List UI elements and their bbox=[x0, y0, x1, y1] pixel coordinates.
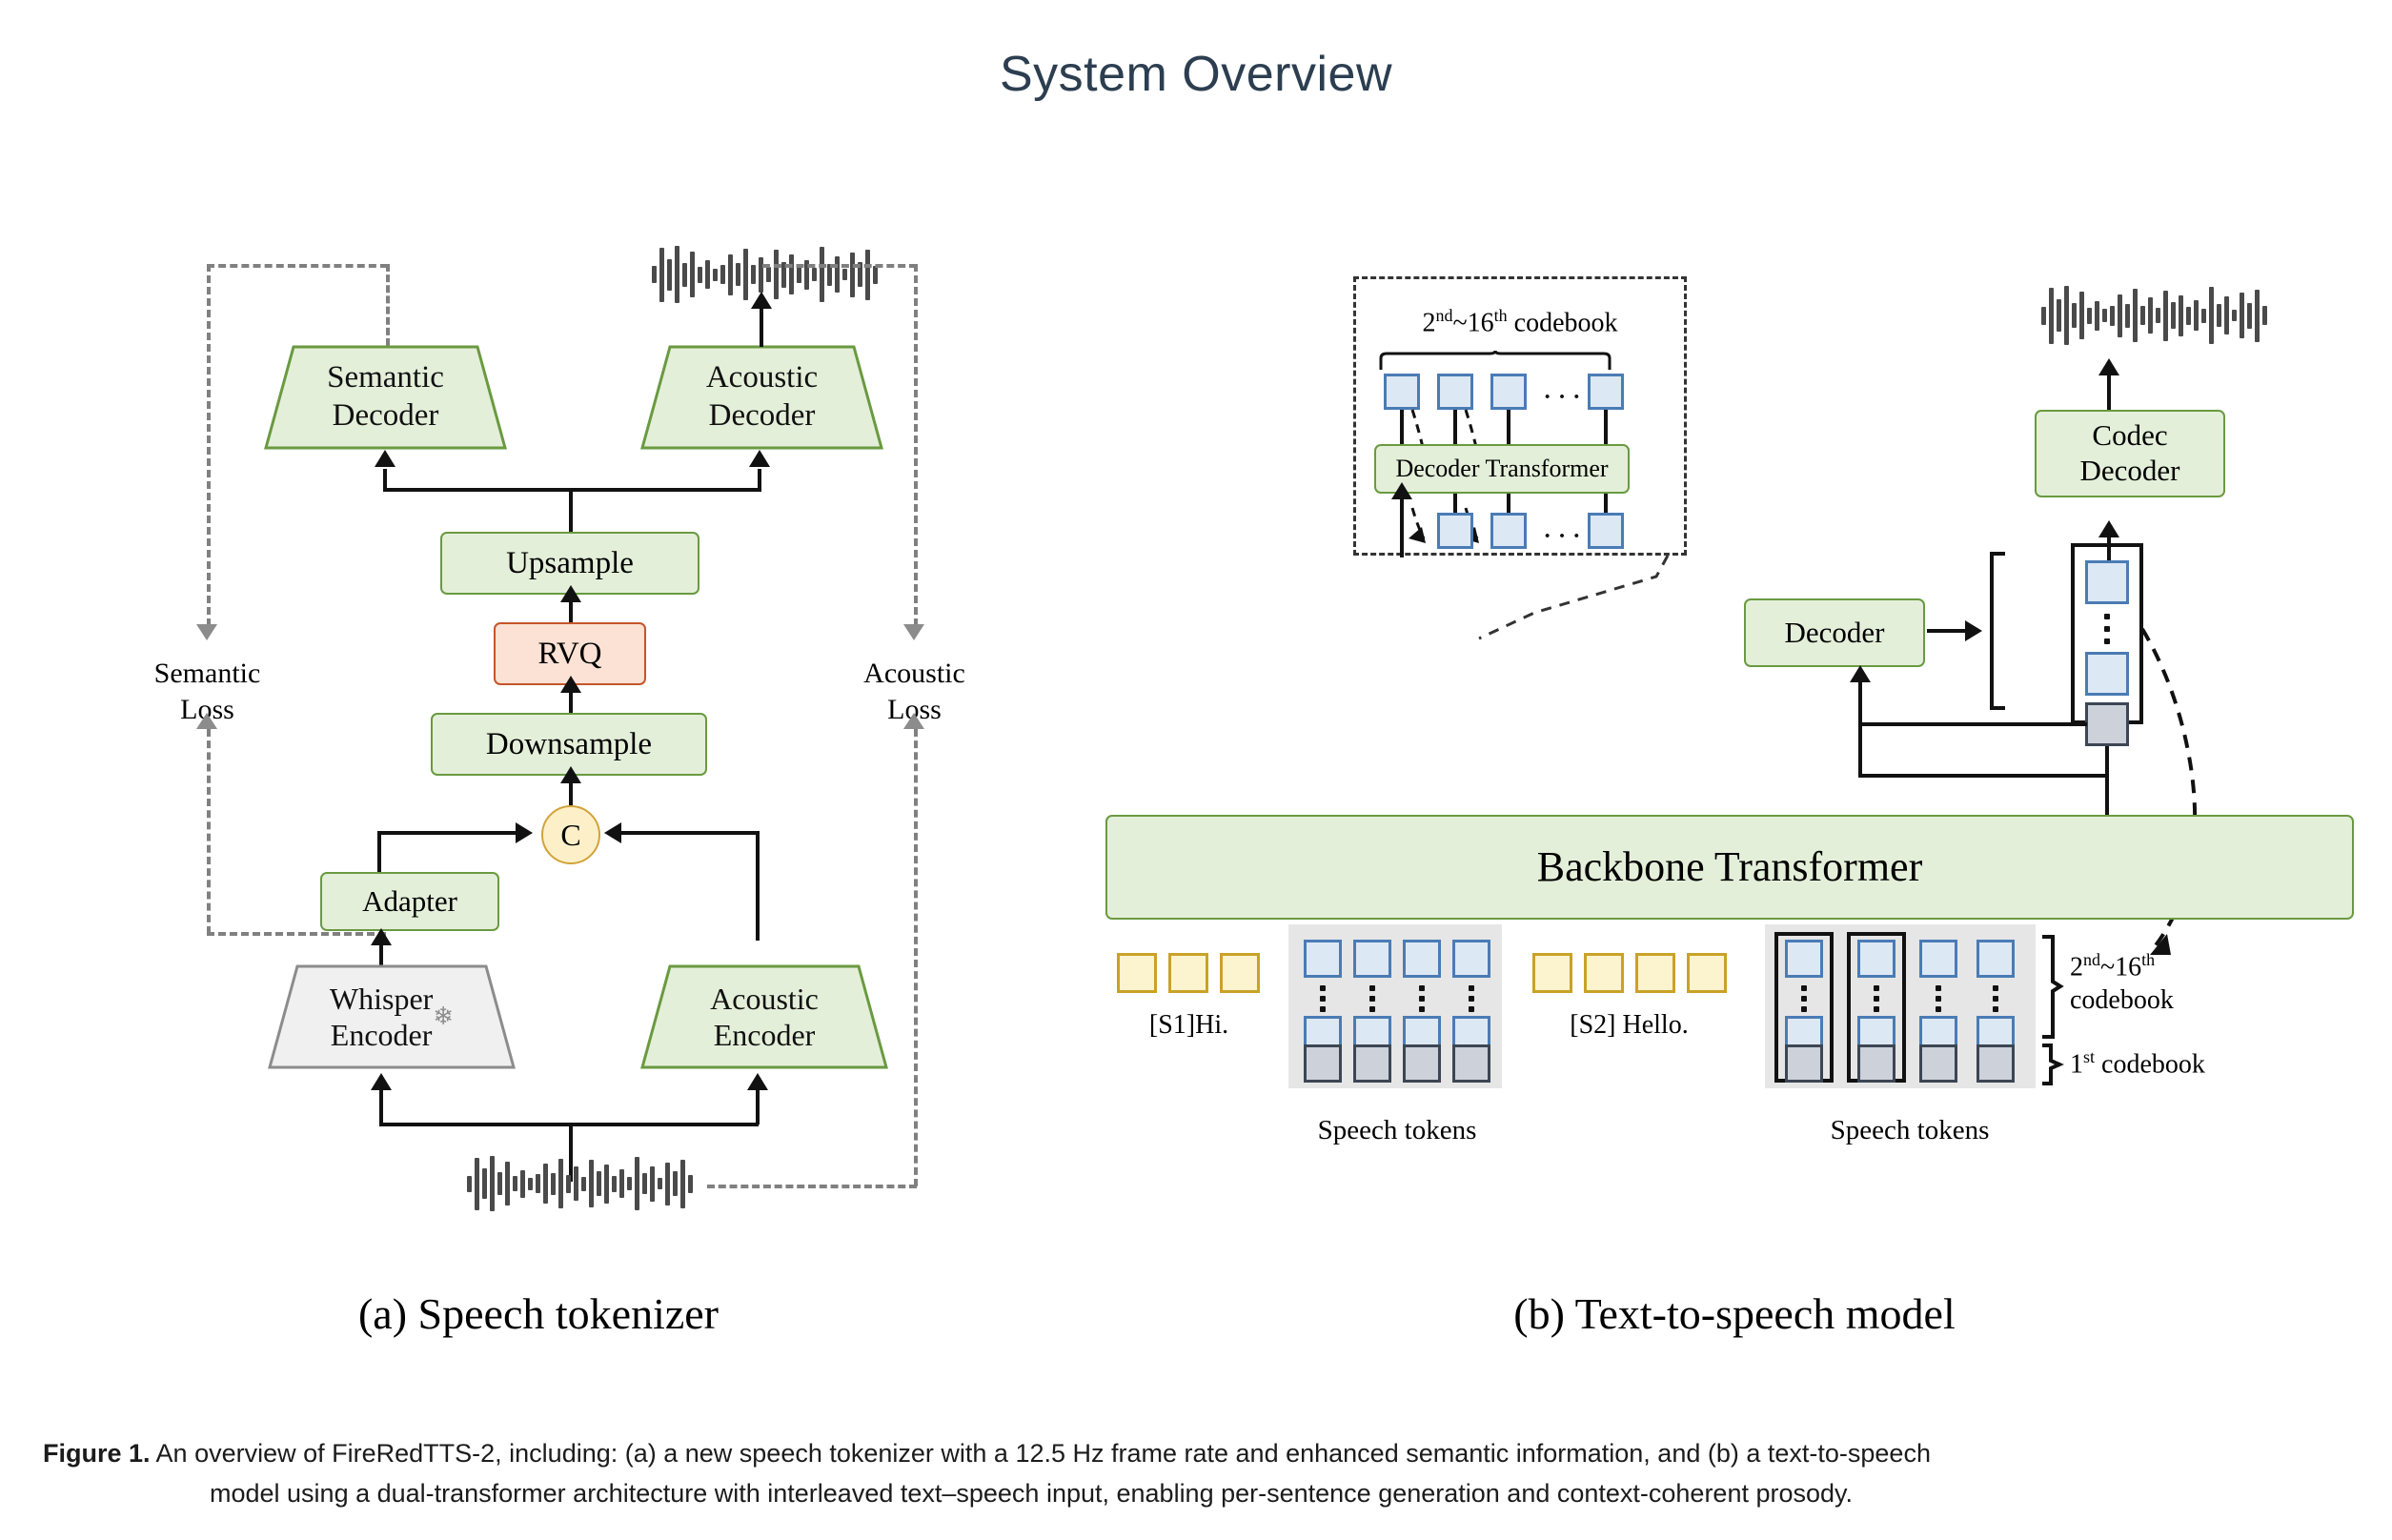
line-upsample-to-bus bbox=[569, 488, 573, 533]
arrow-bus-semantic-icon bbox=[375, 450, 395, 467]
arrow-concat-downsample-icon bbox=[560, 766, 581, 783]
codebook-brace-upper-icon bbox=[2039, 934, 2064, 1041]
codec-output-waveform-icon bbox=[2041, 286, 2267, 345]
decoder-node[interactable]: Decoder bbox=[1744, 598, 1925, 667]
token-rollout-dashed-curve bbox=[2125, 591, 2297, 991]
sp1-r3c2 bbox=[1353, 1044, 1391, 1083]
semantic-loss-dashed-bottom bbox=[207, 932, 386, 936]
codebook-upper-label: 2nd~16thcodebook bbox=[2070, 949, 2318, 1017]
figure-caption: Figure 1. An overview of FireRedTTS-2, i… bbox=[43, 1434, 2354, 1514]
arrow-acousticenc-concat-icon bbox=[604, 822, 621, 843]
acoustic-loss-dashed-up bbox=[914, 729, 918, 1186]
acoustic-decoder-node[interactable]: AcousticDecoder bbox=[640, 345, 883, 450]
sp2-r3c3 bbox=[1919, 1044, 1957, 1083]
text-token-s1-2 bbox=[1168, 953, 1208, 993]
adapter-node[interactable]: Adapter bbox=[320, 872, 499, 931]
decoder-output-vdots bbox=[2104, 614, 2110, 644]
panel-b-caption: (b) Text-to-speech model bbox=[1077, 1288, 2392, 1339]
semantic-loss-arrow-down-icon bbox=[196, 624, 217, 640]
sp1-dots-c4 bbox=[1469, 985, 1474, 1012]
line-feedback-v bbox=[1858, 679, 1862, 776]
sp2-r3c4 bbox=[1976, 1044, 2015, 1083]
inset-stem-bot-3 bbox=[1507, 494, 1510, 515]
line-adapter-up bbox=[377, 831, 381, 874]
text-token-s2-2 bbox=[1584, 953, 1624, 993]
acoustic-encoder-label: AcousticEncoder bbox=[640, 964, 888, 1069]
concat-node[interactable]: C bbox=[541, 805, 600, 864]
sp1-r3c1 bbox=[1304, 1044, 1342, 1083]
sp1-dots-c2 bbox=[1369, 985, 1375, 1012]
speech-tokens-right-label: Speech tokens bbox=[1786, 1113, 2034, 1147]
arrow-decoder-stack-icon bbox=[1965, 620, 1982, 641]
panel-a-caption: (a) Speech tokenizer bbox=[0, 1288, 1077, 1339]
panel-speech-tokenizer: SemanticLoss AcousticLoss SemanticDecode… bbox=[0, 0, 1077, 1382]
sp1-r1c2 bbox=[1353, 940, 1391, 978]
arrow-feedback-decoder-icon bbox=[1850, 665, 1871, 682]
sp1-r3c4 bbox=[1452, 1044, 1490, 1083]
input-waveform-icon bbox=[467, 1156, 693, 1211]
speech-tokens-left-label: Speech tokens bbox=[1290, 1113, 1504, 1147]
acoustic-loss-arrow-down-icon bbox=[903, 624, 924, 640]
text-token-s2-1 bbox=[1532, 953, 1572, 993]
figure-label: Figure 1. bbox=[43, 1439, 151, 1468]
inset-token-bot-1 bbox=[1437, 513, 1473, 549]
sp2-r3c2 bbox=[1857, 1044, 1895, 1083]
line-acousticenc-to-concat bbox=[621, 831, 760, 835]
acoustic-loss-arrow-up-icon bbox=[903, 713, 924, 729]
line-feedback-h1 bbox=[1858, 722, 2087, 726]
line-bus-to-acoustic-decoder bbox=[758, 469, 761, 490]
arrow-bus-acousticenc-icon bbox=[747, 1073, 768, 1090]
sp2-dots-c4 bbox=[1993, 985, 1998, 1012]
line-bus-to-semantic-decoder bbox=[383, 469, 387, 490]
line-bus-to-whisper bbox=[379, 1086, 383, 1125]
sp2-r1c1 bbox=[1785, 940, 1823, 978]
text-token-s1-3 bbox=[1220, 953, 1260, 993]
arrow-rvq-upsample-icon bbox=[560, 585, 581, 602]
text-token-s1-1 bbox=[1117, 953, 1157, 993]
inset-stem-bot-2 bbox=[1453, 494, 1457, 515]
snowflake-icon: ❄ bbox=[433, 1002, 454, 1031]
semantic-loss-dashed-top bbox=[207, 264, 388, 268]
arrow-to-output-wave-icon bbox=[751, 292, 772, 309]
arrow-bus-whisper-icon bbox=[371, 1073, 392, 1090]
line-acoustic-decoder-to-wave bbox=[760, 303, 763, 347]
text-token-s2-4 bbox=[1687, 953, 1727, 993]
decoder-output-token-top bbox=[2085, 560, 2129, 604]
codebook-brace-lower-icon bbox=[2039, 1043, 2064, 1086]
line-adapter-to-concat bbox=[377, 831, 516, 835]
line-bus-to-acousticenc bbox=[756, 1086, 760, 1125]
codec-decoder-label: CodecDecoder bbox=[2080, 418, 2180, 488]
sp1-dots-c1 bbox=[1320, 985, 1326, 1012]
sp1-r1c4 bbox=[1452, 940, 1490, 978]
sp2-r1c4 bbox=[1976, 940, 2015, 978]
semantic-loss-arrow-up-icon bbox=[196, 713, 217, 729]
figure-caption-line1: An overview of FireRedTTS-2, including: … bbox=[151, 1439, 1931, 1468]
codec-decoder-node[interactable]: CodecDecoder bbox=[2035, 410, 2225, 497]
inset-arrow-up-icon bbox=[1391, 482, 1412, 499]
panel-text-to-speech-model: 2nd~16th codebook ··· Decoder Transforme… bbox=[1077, 0, 2392, 1382]
acoustic-loss-dashed-down bbox=[914, 264, 918, 626]
arrow-downsample-rvq-icon bbox=[560, 676, 581, 693]
arrow-whisper-adapter-icon bbox=[371, 928, 392, 945]
sp1-r1c1 bbox=[1304, 940, 1342, 978]
line-codec-to-wave bbox=[2107, 370, 2111, 412]
inset-stem-bot-entry bbox=[1400, 527, 1404, 557]
line-feedback-h2 bbox=[1858, 774, 2106, 778]
text-s1-label: [S1]Hi. bbox=[1101, 1008, 1277, 1042]
text-token-s2-3 bbox=[1635, 953, 1675, 993]
line-acousticenc-up bbox=[756, 831, 760, 941]
whisper-encoder-node[interactable]: WhisperEncoder ❄ bbox=[268, 964, 516, 1069]
semantic-decoder-dashed-stub bbox=[386, 264, 390, 346]
decoder-output-bracket-icon bbox=[1984, 551, 2009, 713]
sp1-r3c3 bbox=[1403, 1044, 1441, 1083]
sp2-r1c2 bbox=[1857, 940, 1895, 978]
semantic-decoder-node[interactable]: SemanticDecoder bbox=[264, 345, 507, 450]
inset-callout-leader bbox=[1477, 548, 1677, 653]
figure-caption-line2: model using a dual-transformer architect… bbox=[43, 1474, 2354, 1514]
sp2-dots-c1 bbox=[1801, 985, 1807, 1012]
inset-brace-icon bbox=[1377, 351, 1615, 372]
line-decoder-to-stack bbox=[1927, 629, 1967, 633]
arrow-bus-acoustic-icon bbox=[749, 450, 770, 467]
sp2-r1c3 bbox=[1919, 940, 1957, 978]
codebook-lower-label: 1st codebook bbox=[2070, 1046, 2318, 1081]
acoustic-encoder-node[interactable]: AcousticEncoder bbox=[640, 964, 888, 1069]
acoustic-loss-dashed-top bbox=[762, 264, 917, 268]
acoustic-decoder-label: AcousticDecoder bbox=[640, 345, 883, 450]
backbone-transformer-node[interactable]: Backbone Transformer bbox=[1105, 815, 2354, 920]
sp1-dots-c3 bbox=[1419, 985, 1425, 1012]
decoder-transformer-node[interactable]: Decoder Transformer bbox=[1374, 444, 1630, 494]
sp2-r3c1 bbox=[1785, 1044, 1823, 1083]
inset-token-bot-3 bbox=[1588, 513, 1624, 549]
text-s2-label: [S2] Hello. bbox=[1517, 1008, 1741, 1042]
sp2-dots-c3 bbox=[1936, 985, 1941, 1012]
semantic-loss-dashed-down bbox=[207, 264, 211, 626]
line-stack-down-to-backbone bbox=[2105, 746, 2109, 817]
semantic-loss-dashed-up bbox=[207, 729, 211, 934]
sp2-dots-c2 bbox=[1874, 985, 1879, 1012]
inset-codebook-label: 2nd~16th codebook bbox=[1358, 305, 1682, 339]
inset-token-bot-2 bbox=[1490, 513, 1527, 549]
decoder-output-token-first bbox=[2085, 702, 2129, 746]
inset-stem-bot-4 bbox=[1604, 494, 1608, 515]
arrow-codec-wave-icon bbox=[2098, 358, 2119, 375]
whisper-encoder-label: WhisperEncoder ❄ bbox=[268, 964, 516, 1069]
decoder-output-token-mid bbox=[2085, 652, 2129, 696]
arrow-tokenstack-codec-icon bbox=[2098, 520, 2119, 537]
arrow-adapter-concat-icon bbox=[516, 822, 533, 843]
semantic-decoder-label: SemanticDecoder bbox=[264, 345, 507, 450]
sp1-r1c3 bbox=[1403, 940, 1441, 978]
acoustic-loss-dashed-bottom bbox=[707, 1185, 917, 1188]
